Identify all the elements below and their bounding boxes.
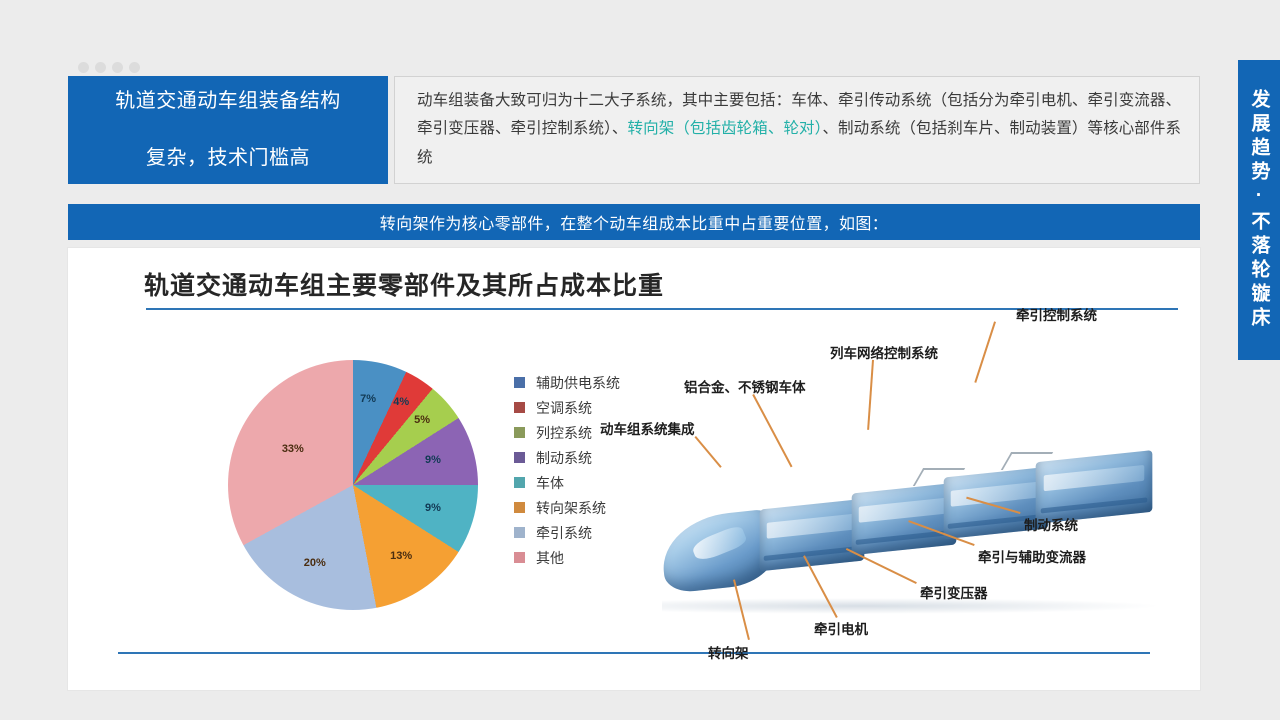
legend-item: 车体 [514,470,620,495]
pie-legend: 辅助供电系统空调系统列控系统制动系统车体转向架系统牵引系统其他 [514,370,620,570]
legend-label: 其他 [536,548,564,568]
intro-paragraph-box: 动车组装备大致可归为十二大子系统，其中主要包括：车体、牵引传动系统（包括分为牵引… [394,76,1200,184]
train-car [760,499,865,572]
slide-root: 轨道交通动车组装备结构 复杂，技术门槛高 动车组装备大致可归为十二大子系统，其中… [0,0,1280,720]
train-diagram: 牵引控制系统列车网络控制系统铝合金、不锈钢车体动车组系统集成制动系统牵引与辅助变… [608,300,1188,650]
dot-icon [78,62,89,73]
pie-slice-label: 9% [425,502,441,514]
legend-label: 空调系统 [536,398,592,418]
legend-swatch-icon [514,402,525,413]
legend-swatch-icon [514,552,525,563]
train-illustration [656,418,1176,618]
train-label-brake-system: 制动系统 [1024,514,1078,534]
legend-item: 空调系统 [514,395,620,420]
pie-slice-label: 5% [414,414,430,426]
train-label-traction-motor: 牵引电机 [814,618,868,638]
train-car [852,483,957,556]
legend-item: 牵引系统 [514,520,620,545]
legend-label: 列控系统 [536,423,592,443]
side-section-tab-label: 发展趋势·不落轮镟床 [1250,89,1269,331]
train-window-strip [951,481,1041,506]
legend-item: 其他 [514,545,620,570]
callout-banner-text: 转向架作为核心零部件，在整个动车组成本比重中占重要位置，如图： [380,210,888,234]
train-ground-shadow [662,598,1162,614]
pie-slice-label: 7% [360,393,376,405]
legend-label: 牵引系统 [536,523,592,543]
pie-slice-label: 33% [282,443,304,455]
callout-banner: 转向架作为核心零部件，在整个动车组成本比重中占重要位置，如图： [68,204,1200,240]
legend-swatch-icon [514,377,525,388]
legend-item: 辅助供电系统 [514,370,620,395]
pie-slice-label: 13% [390,550,412,562]
section-title-box: 轨道交通动车组装备结构 复杂，技术门槛高 [68,76,388,184]
dot-icon [129,62,140,73]
train-window-strip [859,497,949,522]
dot-icon [95,62,106,73]
train-label-emu-system-integration: 动车组系统集成 [600,418,695,438]
train-car [1036,450,1153,524]
section-title-line1: 轨道交通动车组装备结构 [105,87,351,115]
intro-text-highlight: 转向架（包括齿轮箱、轮对） [628,120,823,137]
train-label-train-network-control-system: 列车网络控制系统 [830,342,938,362]
legend-swatch-icon [514,427,525,438]
legend-item: 转向架系统 [514,495,620,520]
train-label-traction-control-system: 牵引控制系统 [1016,304,1097,324]
train-underframe-stripe [1040,497,1147,514]
pie-slice-label: 4% [393,396,409,408]
legend-swatch-icon [514,527,525,538]
legend-label: 制动系统 [536,448,592,468]
pie-slice-label: 9% [425,454,441,466]
train-label-aluminium-stainless-carbody: 铝合金、不锈钢车体 [684,376,806,396]
train-windshield [690,524,748,564]
section-title-line2: 复杂，技术门槛高 [105,144,351,172]
chart-card: 轨道交通动车组主要零部件及其所占成本比重 7%4%5%9%9%13%20%33%… [68,248,1200,690]
legend-swatch-icon [514,477,525,488]
legend-label: 车体 [536,473,564,493]
dot-icon [112,62,123,73]
pie-circle [228,360,478,610]
pie-chart: 7%4%5%9%9%13%20%33% 辅助供电系统空调系统列控系统制动系统车体… [156,354,676,634]
decorative-dots [78,62,140,73]
train-label-bogie: 转向架 [708,642,749,662]
train-window-strip [767,513,857,538]
pie-slice-label: 20% [304,557,326,569]
legend-swatch-icon [514,502,525,513]
legend-swatch-icon [514,452,525,463]
train-label-traction-transformer: 牵引变压器 [920,582,988,602]
leader-line [974,321,996,382]
train-window-strip [1044,465,1144,491]
legend-label: 转向架系统 [536,498,606,518]
train-label-traction-auxiliary-converter: 牵引与辅助变流器 [978,546,1086,566]
side-section-tab[interactable]: 发展趋势·不落轮镟床 [1238,60,1280,360]
legend-item: 制动系统 [514,445,620,470]
chart-card-title: 轨道交通动车组主要零部件及其所占成本比重 [144,266,664,302]
divider-bottom [118,652,1150,654]
